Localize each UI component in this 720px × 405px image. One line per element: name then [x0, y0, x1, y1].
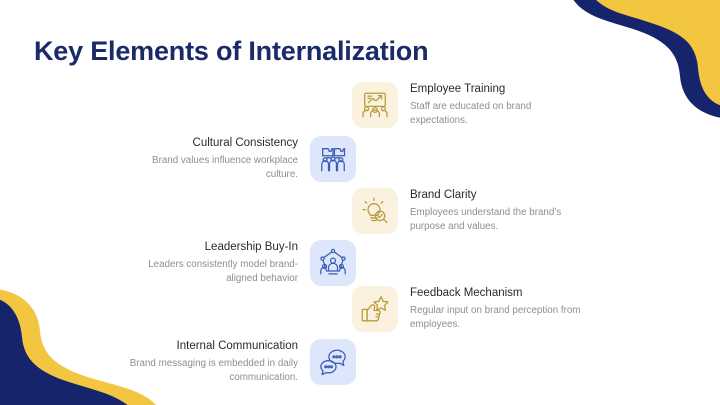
- puzzle-people-icon: [310, 136, 356, 182]
- leader-network-people-icon: [310, 240, 356, 286]
- item-description: Brand values influence workplace culture…: [150, 154, 298, 182]
- slide-canvas: Key Elements of Internalization Employee…: [0, 0, 720, 405]
- presentation-chart-people-icon: [352, 82, 398, 128]
- item-description: Employees understand the brand’s purpose…: [410, 206, 590, 234]
- item-description: Regular input on brand perception from e…: [410, 304, 590, 332]
- page-title: Key Elements of Internalization: [34, 36, 428, 67]
- item-title: Feedback Mechanism: [410, 286, 590, 302]
- lightbulb-magnifier-icon: [352, 188, 398, 234]
- item-text-block: Leadership Buy-In Leaders consistently m…: [120, 240, 298, 286]
- speech-bubbles-icon: [310, 339, 356, 385]
- list-item-leadership-buyin[interactable]: Leadership Buy-In Leaders consistently m…: [120, 240, 356, 286]
- item-text-block: Feedback Mechanism Regular input on bran…: [410, 286, 590, 332]
- thumbs-up-star-icon: [352, 286, 398, 332]
- list-item-employee-training[interactable]: Employee Training Staff are educated on …: [352, 82, 590, 128]
- item-description: Staff are educated on brand expectations…: [410, 100, 590, 128]
- item-title: Leadership Buy-In: [120, 240, 298, 256]
- item-title: Employee Training: [410, 82, 590, 98]
- item-title: Brand Clarity: [410, 188, 590, 204]
- item-text-block: Employee Training Staff are educated on …: [410, 82, 590, 128]
- list-item-internal-communication[interactable]: Internal Communication Brand messaging i…: [110, 339, 356, 385]
- list-item-cultural-consistency[interactable]: Cultural Consistency Brand values influe…: [150, 136, 356, 182]
- list-item-feedback-mechanism[interactable]: Feedback Mechanism Regular input on bran…: [352, 286, 590, 332]
- item-text-block: Brand Clarity Employees understand the b…: [410, 188, 590, 234]
- item-description: Brand messaging is embedded in daily com…: [118, 357, 298, 385]
- item-text-block: Internal Communication Brand messaging i…: [118, 339, 298, 385]
- item-title: Internal Communication: [118, 339, 298, 355]
- list-item-brand-clarity[interactable]: Brand Clarity Employees understand the b…: [352, 188, 590, 234]
- item-title: Cultural Consistency: [150, 136, 298, 152]
- item-description: Leaders consistently model brand-aligned…: [120, 258, 298, 286]
- item-text-block: Cultural Consistency Brand values influe…: [150, 136, 298, 182]
